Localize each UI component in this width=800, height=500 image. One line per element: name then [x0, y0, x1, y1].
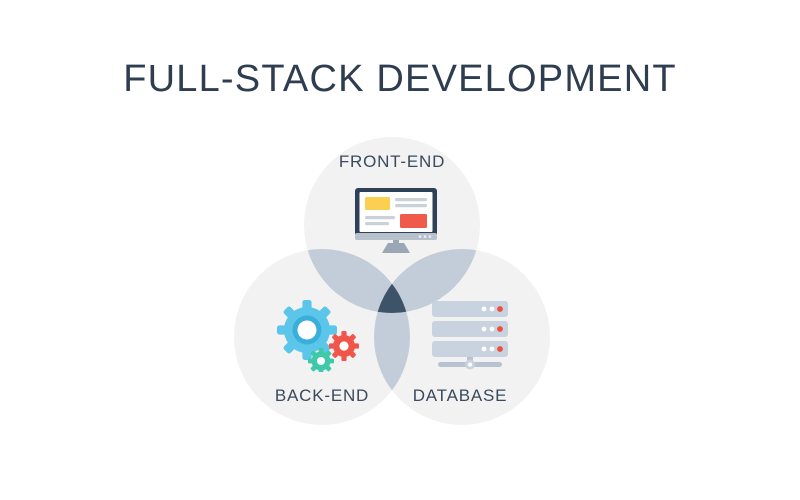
monitor-indicator — [424, 235, 427, 238]
server-rack — [432, 301, 508, 317]
monitor-block-yellow — [365, 197, 390, 210]
monitor-line — [365, 216, 395, 219]
server-stand-hub-inner — [468, 362, 472, 366]
monitor-block-red — [400, 214, 427, 228]
venn-label-database: DATABASE — [360, 386, 560, 406]
monitor-line — [395, 204, 427, 207]
server-rack — [432, 341, 508, 357]
gears-icon — [275, 300, 370, 372]
venn-label-front-end: FRONT-END — [292, 152, 492, 172]
monitor-indicator — [419, 235, 422, 238]
server-stack-icon — [430, 300, 510, 372]
monitor-indicator — [429, 235, 432, 238]
gear-small-red — [329, 331, 359, 361]
monitor-icon — [352, 188, 440, 254]
infographic-canvas: FULL-STACK DEVELOPMENT — [0, 0, 800, 500]
server-rack — [432, 321, 508, 337]
monitor-line — [365, 222, 389, 225]
monitor-stand — [382, 243, 410, 253]
monitor-line — [395, 198, 427, 201]
